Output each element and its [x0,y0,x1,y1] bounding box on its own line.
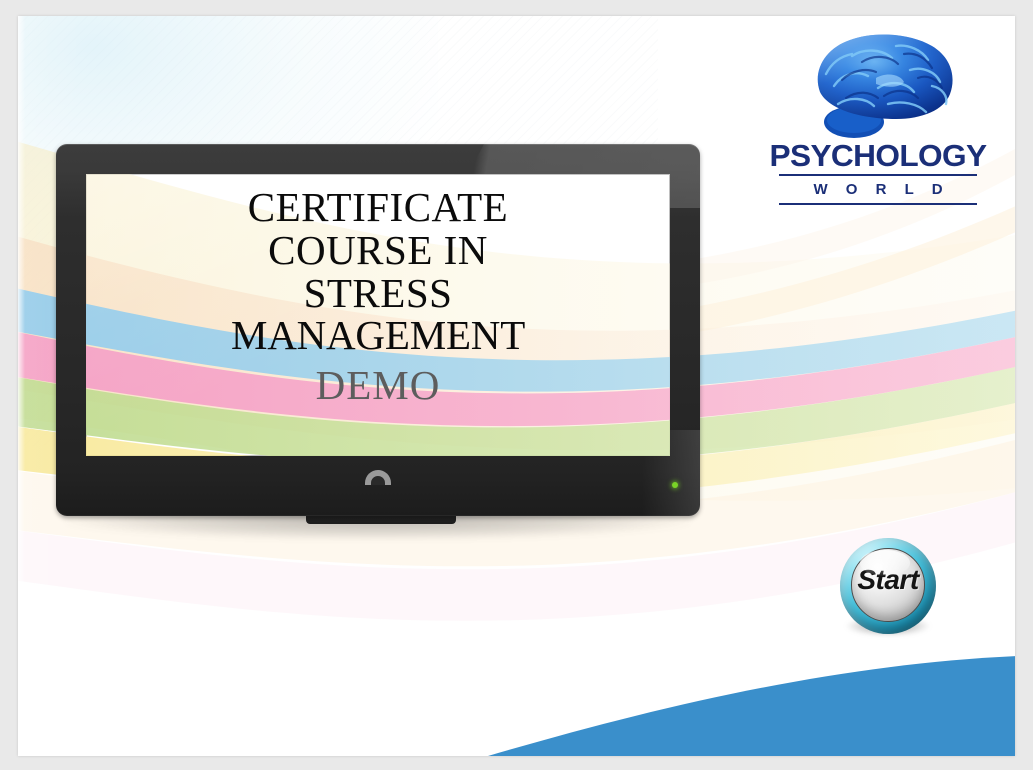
slide-frame: CERTIFICATE COURSE IN STRESS MANAGEMENT … [0,0,1033,770]
psychology-world-logo: PSYCHOLOGY W O R L D [763,26,993,205]
monitor-brand-arch-icon [365,470,391,485]
logo-brand-subtitle: W O R L D [763,181,993,198]
title-line-1: CERTIFICATE [86,188,670,228]
start-button-label: Start [840,564,936,596]
power-led-indicator [672,482,678,488]
monitor-screen: CERTIFICATE COURSE IN STRESS MANAGEMENT … [86,174,670,456]
slide-canvas: CERTIFICATE COURSE IN STRESS MANAGEMENT … [18,16,1015,756]
logo-divider-top [779,174,977,176]
title-line-4: MANAGEMENT [86,316,670,356]
logo-brand-name: PSYCHOLOGY [761,140,996,171]
title-line-2: COURSE IN [86,231,670,271]
monitor: CERTIFICATE COURSE IN STRESS MANAGEMENT … [56,144,700,534]
title-line-3: STRESS [86,274,670,314]
monitor-bezel: CERTIFICATE COURSE IN STRESS MANAGEMENT … [56,144,700,516]
brain-icon [792,26,964,144]
slide-title-block: CERTIFICATE COURSE IN STRESS MANAGEMENT … [86,188,670,406]
logo-divider-bottom [779,203,977,205]
start-button[interactable]: Start [840,538,936,634]
slide-subtitle-demo: DEMO [86,365,670,406]
